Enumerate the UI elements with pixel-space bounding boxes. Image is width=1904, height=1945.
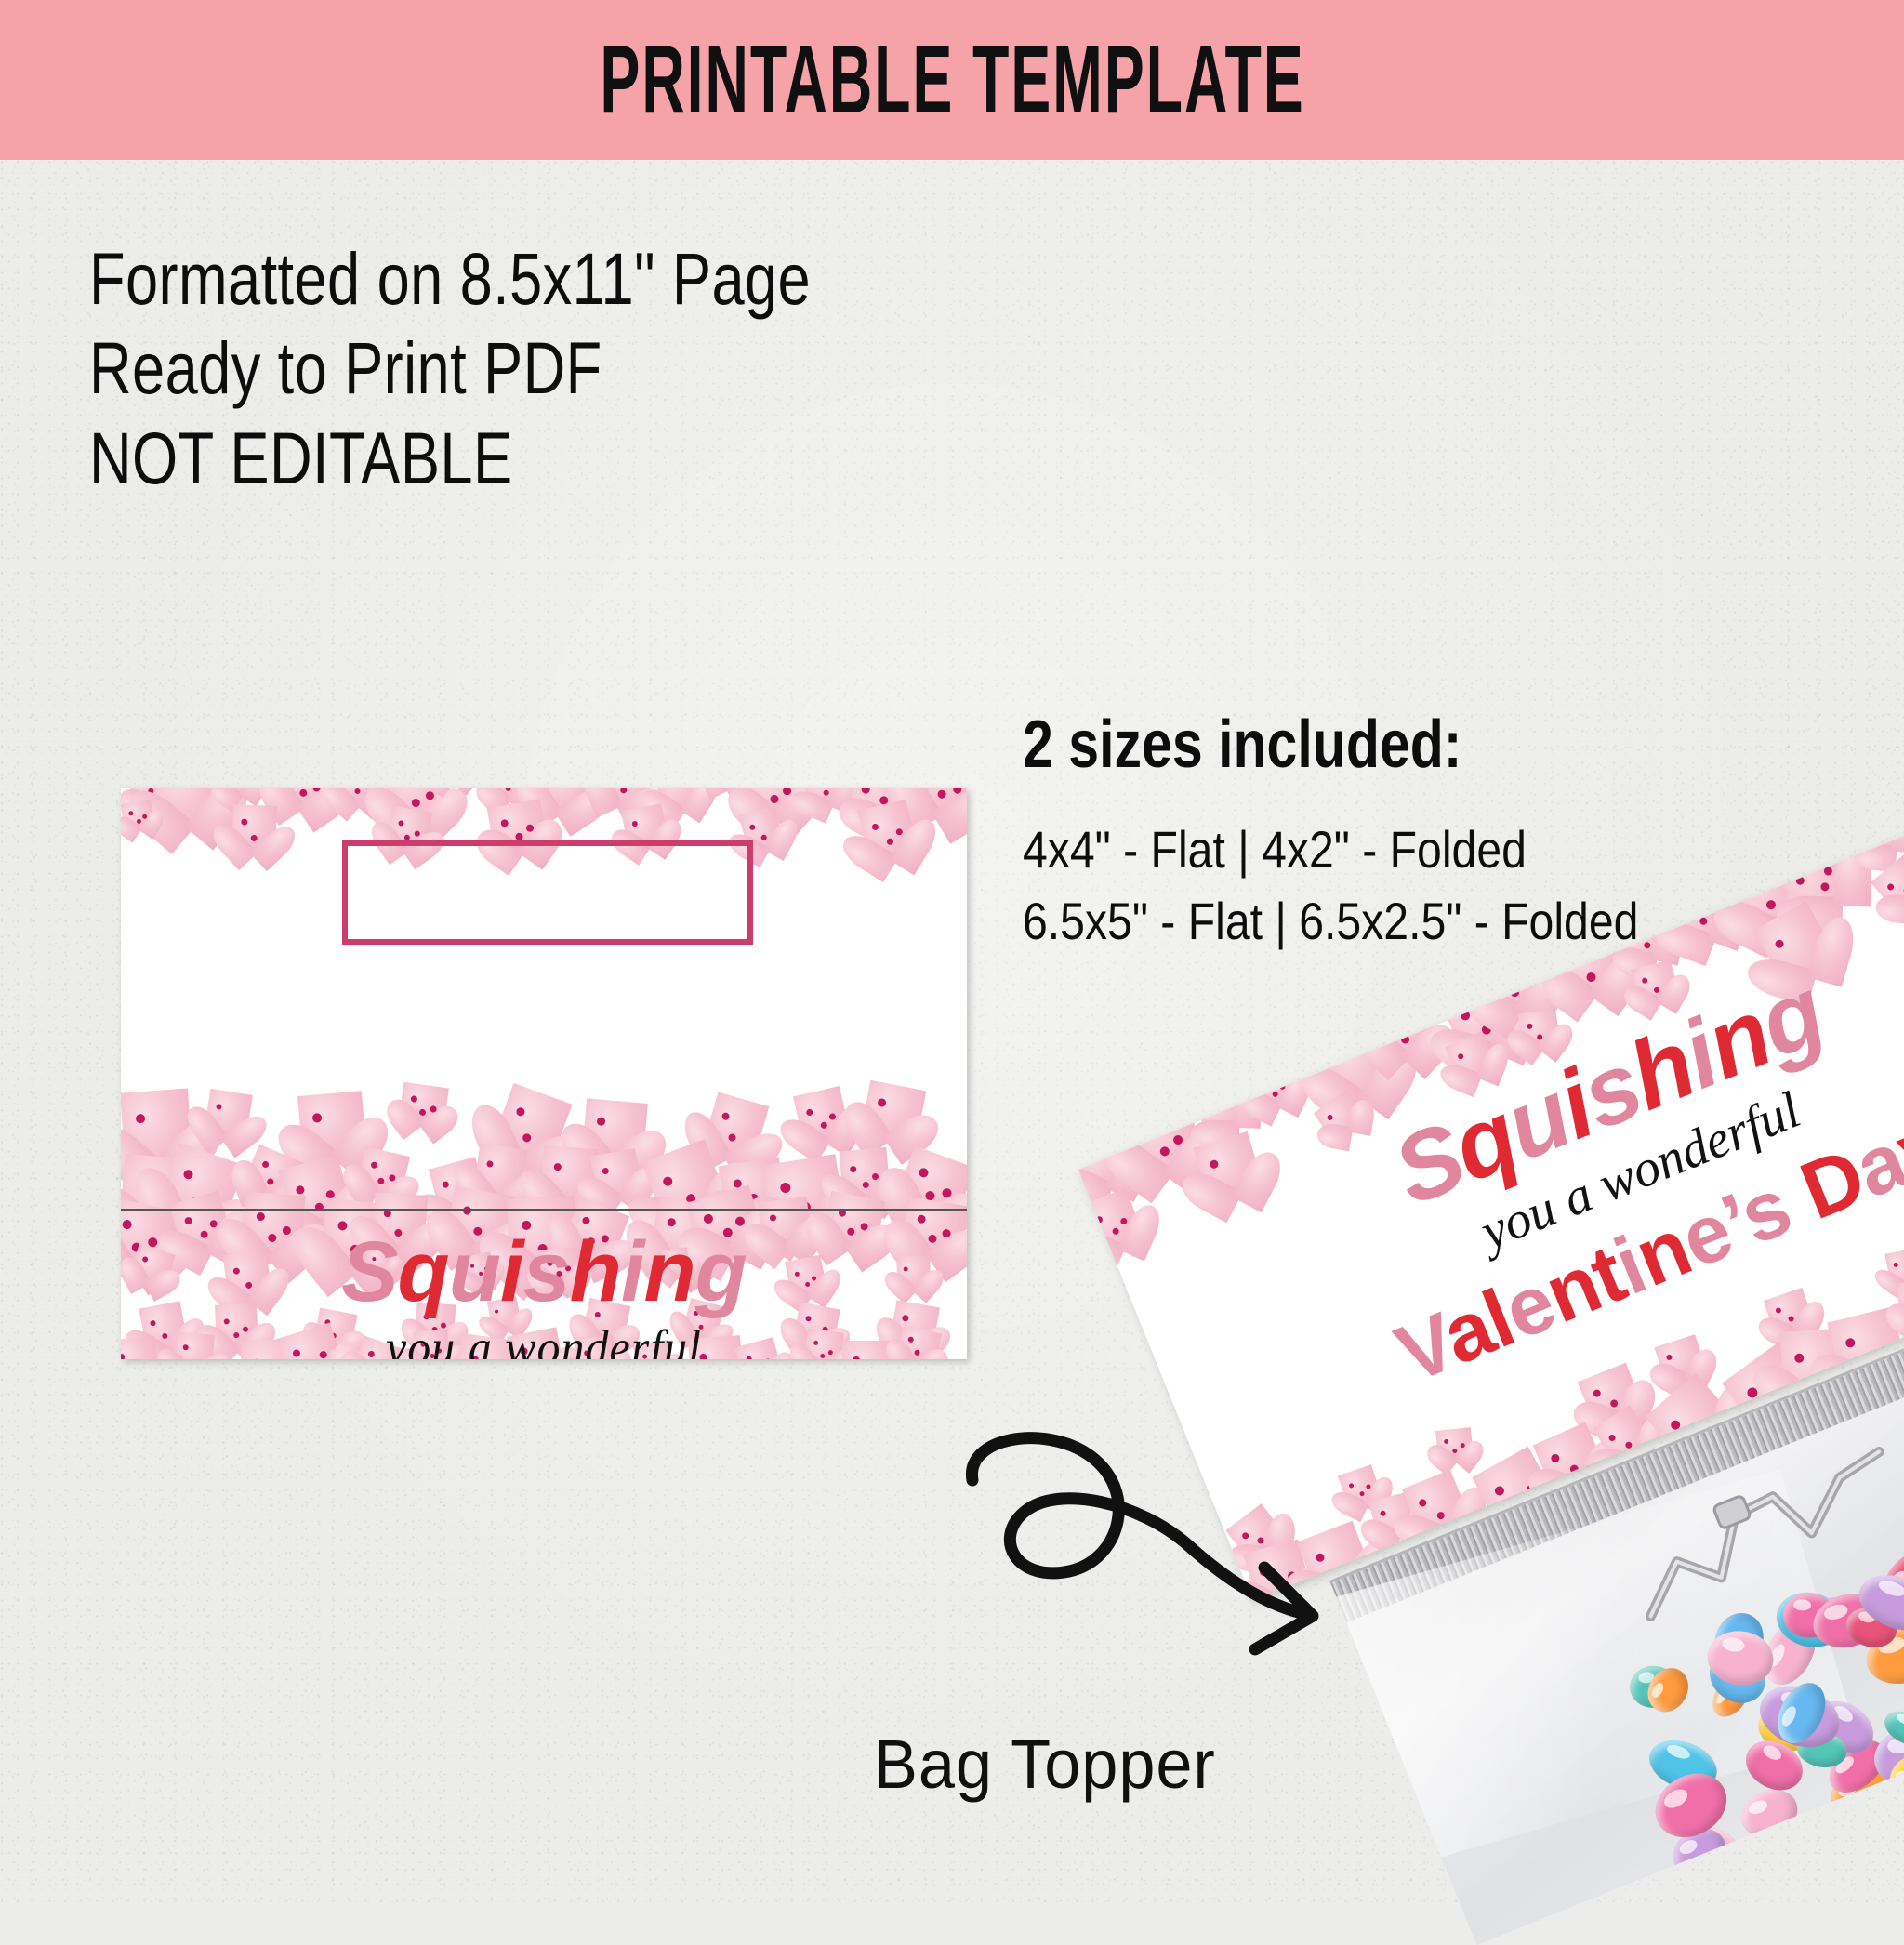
heart-icon <box>216 788 259 801</box>
letter: i <box>500 1224 523 1319</box>
heart-icon <box>906 788 967 827</box>
heart-icon <box>1851 801 1904 866</box>
heart-icon <box>1517 1009 1561 1053</box>
card-script-line: you a wonderful <box>121 1322 967 1359</box>
heart-icon <box>1125 1097 1202 1184</box>
heart-dot <box>1744 883 1756 895</box>
sizes-line-small: 4x4" - Flat | 4x2" - Folded <box>1023 814 1638 885</box>
heart-icon <box>1246 1062 1300 1116</box>
letter: g <box>695 1224 747 1319</box>
heart-icon <box>398 1082 449 1130</box>
curly-arrow-icon <box>958 1422 1348 1729</box>
heart-icon <box>121 799 156 833</box>
heart-icon <box>1376 1001 1435 1062</box>
candy-piece <box>1734 1781 1805 1846</box>
card-message: Squishing you a wonderful Valentine’s Da… <box>121 1209 967 1359</box>
heart-dot <box>1141 1125 1151 1135</box>
heart-dot <box>412 799 420 807</box>
heart-icon <box>1895 1276 1904 1330</box>
heart-dot <box>426 791 434 800</box>
heart-icon <box>203 1089 253 1145</box>
sizes-heading: 2 sizes included: <box>1023 708 1610 782</box>
letter: q <box>398 1224 449 1319</box>
sizes-included-block: 2 sizes included: 4x4" - Flat | 4x2" - F… <box>1023 708 1739 958</box>
heart-icon <box>590 1148 643 1205</box>
heart-icon <box>1435 1427 1474 1464</box>
printable-template-banner: PRINTABLE TEMPLATE <box>0 0 1904 160</box>
letter: S <box>341 1224 397 1319</box>
letter: h <box>570 1224 621 1319</box>
heart-icon <box>793 1086 852 1150</box>
banner-title: PRINTABLE TEMPLATE <box>600 32 1304 128</box>
cut-outline-box <box>342 840 753 945</box>
heart-dot <box>1491 973 1501 984</box>
sizes-line-large: 6.5x5" - Flat | 6.5x2.5" - Folded <box>1023 885 1638 957</box>
info-line-format: Formatted on 8.5x11" Page <box>89 234 811 324</box>
heart-icon <box>297 1091 367 1163</box>
heart-dot <box>1387 1019 1395 1027</box>
heart-icon-left <box>260 867 322 922</box>
letter: i <box>621 1224 644 1319</box>
info-text-block: Formatted on 8.5x11" Page Ready to Print… <box>89 234 991 503</box>
letter: n <box>643 1224 694 1319</box>
info-line-ready: Ready to Print PDF <box>89 324 811 413</box>
info-line-editable: NOT EDITABLE <box>89 414 811 503</box>
card-headline: Squishing <box>121 1229 967 1315</box>
printable-card-preview: Squishing you a wonderful Valentine’s Da… <box>121 788 967 1359</box>
heart-dot <box>1258 1082 1265 1090</box>
heart-icon <box>860 1080 927 1148</box>
heart-icon <box>1631 959 1680 1008</box>
bag-topper-label: Bag Topper <box>874 1725 1216 1804</box>
letter: s <box>523 1224 570 1319</box>
heart-icon <box>231 804 277 857</box>
heart-dot <box>1866 829 1875 839</box>
heart-dot <box>1203 1105 1212 1114</box>
letter: u <box>449 1224 500 1319</box>
heart-icon-right <box>762 867 824 922</box>
